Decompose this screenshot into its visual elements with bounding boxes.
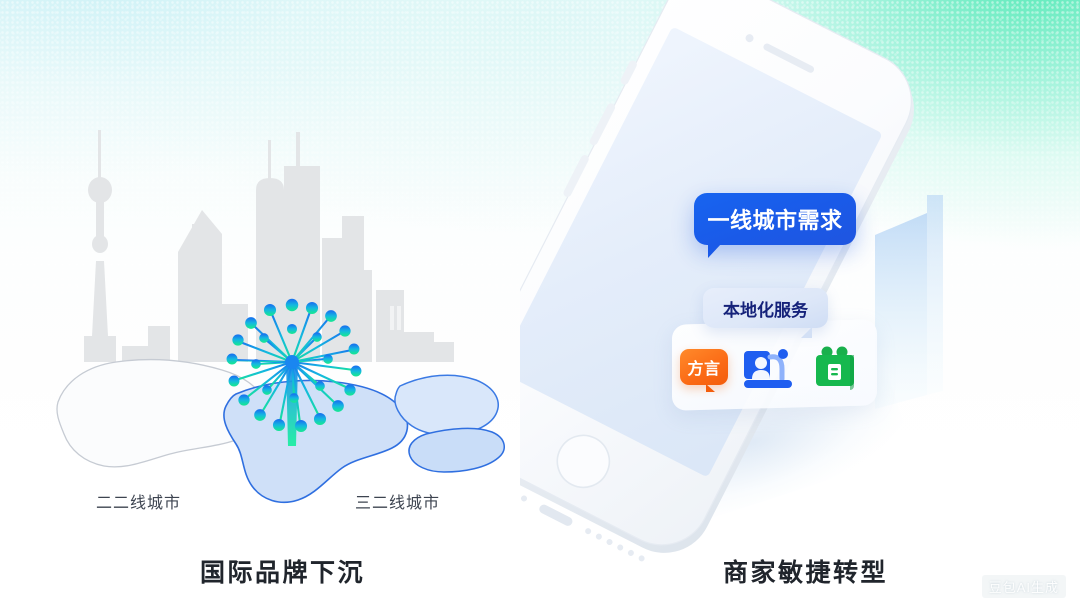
dialect-icon-slot[interactable]: 方言: [680, 349, 728, 385]
illustration-canvas: 二二线城市 三二线城市: [0, 0, 1080, 608]
label-tier-city-left: 二二线城市: [96, 489, 181, 513]
bubble-local-service-text: 本地化服务: [723, 296, 808, 321]
gift-tag-line-1: [831, 368, 838, 370]
dialect-bubble-icon[interactable]: 方言: [680, 349, 728, 385]
ai-watermark: 豆包AI生成: [982, 575, 1066, 598]
left-scene-panel: 二二线城市 三二线城市: [0, 0, 540, 608]
dialect-icon-label: 方言: [687, 355, 720, 379]
map-region-southeast: [409, 428, 504, 472]
gift-tag: [828, 364, 841, 380]
caption-right: 商家敏捷转型: [723, 553, 888, 589]
service-base-bar: [744, 380, 792, 388]
bubble-tier1-demand-tail: [708, 244, 730, 258]
service-person-head: [755, 357, 767, 369]
dandelion-burst: [212, 296, 372, 466]
service-icon-row: 方言: [680, 336, 870, 398]
bubble-local-service[interactable]: 本地化服务: [703, 288, 828, 328]
map-region-northeast: [395, 375, 498, 435]
gift-box-side: [850, 355, 854, 390]
caption-left: 国际品牌下沉: [200, 553, 365, 589]
gift-tag-line-2: [831, 373, 838, 375]
bubble-tier1-demand[interactable]: 一线城市需求: [694, 193, 856, 245]
bubble-local-service-tail: [793, 327, 812, 338]
gift-box-icon[interactable]: [812, 343, 858, 391]
bubble-tier1-demand-text: 一线城市需求: [707, 203, 842, 235]
label-tier-city-right: 三二线城市: [355, 489, 440, 513]
burst-core: [285, 355, 299, 369]
customer-service-icon[interactable]: [742, 343, 794, 391]
service-headset-dot: [778, 349, 788, 359]
service-headset-arm: [770, 357, 782, 379]
